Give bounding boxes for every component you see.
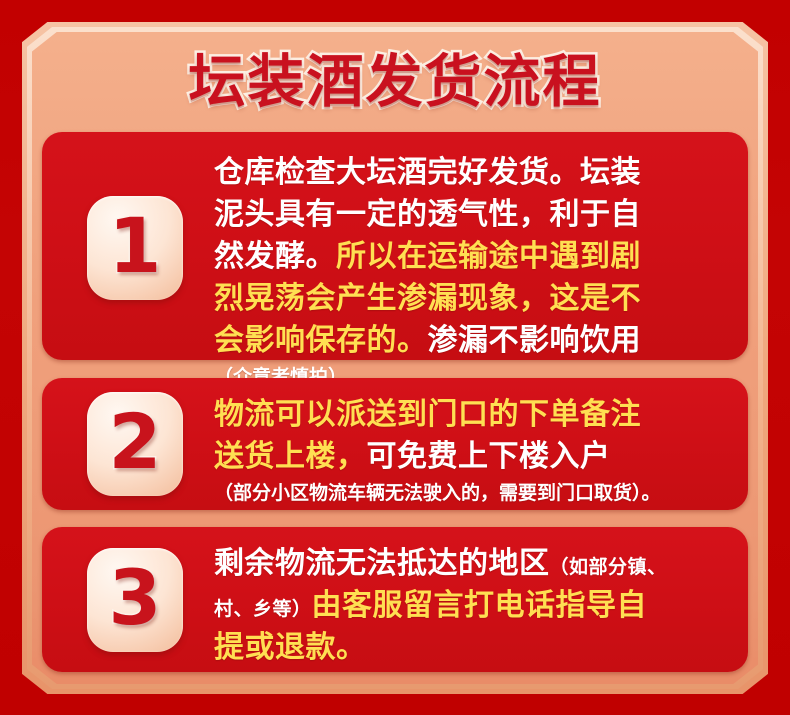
step-2-note: （部分小区物流车辆无法驶入的，需要到门口取货）。 (214, 478, 728, 508)
page-title: 坛装酒发货流程 (189, 36, 602, 118)
step-2-text-1: 物流可以派送到门口的下单备注 (214, 397, 641, 432)
step-number-badge: 3 (87, 548, 183, 652)
step-1-line-4: 烈晃荡会产生渗漏现象，这是不 (214, 278, 728, 320)
step-card-2: 2 物流可以派送到门口的下单备注 送货上楼，可免费上下楼入户 （部分小区物流车辆… (42, 378, 748, 510)
step-1-line-3: 然发酵。所以在运输途中遇到剧 (214, 236, 728, 278)
step-1-body: 仓库检查大坛酒完好发货。坛装 泥头具有一定的透气性，利于自 然发酵。所以在运输途… (214, 150, 734, 392)
step-3-text-1a: 剩余物流无法抵达的地区 (214, 546, 550, 581)
step-card-1: 1 仓库检查大坛酒完好发货。坛装 泥头具有一定的透气性，利于自 然发酵。所以在运… (42, 132, 748, 360)
steps-list: 1 仓库检查大坛酒完好发货。坛装 泥头具有一定的透气性，利于自 然发酵。所以在运… (42, 132, 748, 672)
step-3-text-2b: 由客服留言打电话指导自 (312, 588, 648, 623)
step-1-text-3b: 所以在运输途中遇到剧 (336, 239, 641, 274)
step-1-line-2: 泥头具有一定的透气性，利于自 (214, 194, 728, 236)
step-2-body: 物流可以派送到门口的下单备注 送货上楼，可免费上下楼入户 （部分小区物流车辆无法… (214, 390, 734, 508)
step-card-3: 3 剩余物流无法抵达的地区（如部分镇、 村、乡等）由客服留言打电话指导自 提或退… (42, 527, 748, 672)
step-1-line-1: 仓库检查大坛酒完好发货。坛装 (214, 152, 728, 194)
step-2-line-2: 送货上楼，可免费上下楼入户 (214, 436, 728, 478)
step-1-text-1: 仓库检查大坛酒完好发货。坛装 (214, 155, 641, 190)
step-3-line-2: 村、乡等）由客服留言打电话指导自 (214, 585, 728, 627)
step-1-text-2: 泥头具有一定的透气性，利于自 (214, 197, 641, 232)
step-3-badge-column: 3 (56, 539, 214, 660)
step-1-badge-column: 1 (56, 150, 214, 346)
step-1-line-5: 会影响保存的。渗漏不影响饮用 (214, 320, 728, 362)
step-1-text-4: 烈晃荡会产生渗漏现象，这是不 (214, 281, 641, 316)
step-3-line-3: 提或退款。 (214, 627, 728, 669)
step-2-text-2b: 可免费上下楼入户 (367, 439, 611, 474)
step-number-badge: 2 (87, 392, 183, 496)
promotional-poster: 坛装酒发货流程 1 仓库检查大坛酒完好发货。坛装 泥头具有一定的透气性，利于自 … (0, 0, 790, 715)
step-3-text-2a: 村、乡等） (214, 598, 312, 620)
step-2-line-1: 物流可以派送到门口的下单备注 (214, 394, 728, 436)
step-1-text-3a: 然发酵。 (214, 239, 336, 274)
step-3-line-1: 剩余物流无法抵达的地区（如部分镇、 (214, 543, 728, 585)
step-3-body: 剩余物流无法抵达的地区（如部分镇、 村、乡等）由客服留言打电话指导自 提或退款。 (214, 539, 734, 669)
step-3-text-3: 提或退款。 (214, 630, 367, 665)
step-1-text-5b: 渗漏不影响饮用 (428, 323, 642, 358)
step-number-1: 1 (109, 208, 162, 284)
step-2-badge-column: 2 (56, 390, 214, 498)
title-container: 坛装酒发货流程 (0, 36, 790, 118)
step-3-text-1b: （如部分镇、 (550, 556, 667, 578)
step-1-text-5a: 会影响保存的。 (214, 323, 428, 358)
step-number-2: 2 (109, 404, 162, 480)
step-number-3: 3 (109, 560, 162, 636)
step-number-badge: 1 (87, 196, 183, 300)
step-2-text-2a: 送货上楼， (214, 439, 367, 474)
